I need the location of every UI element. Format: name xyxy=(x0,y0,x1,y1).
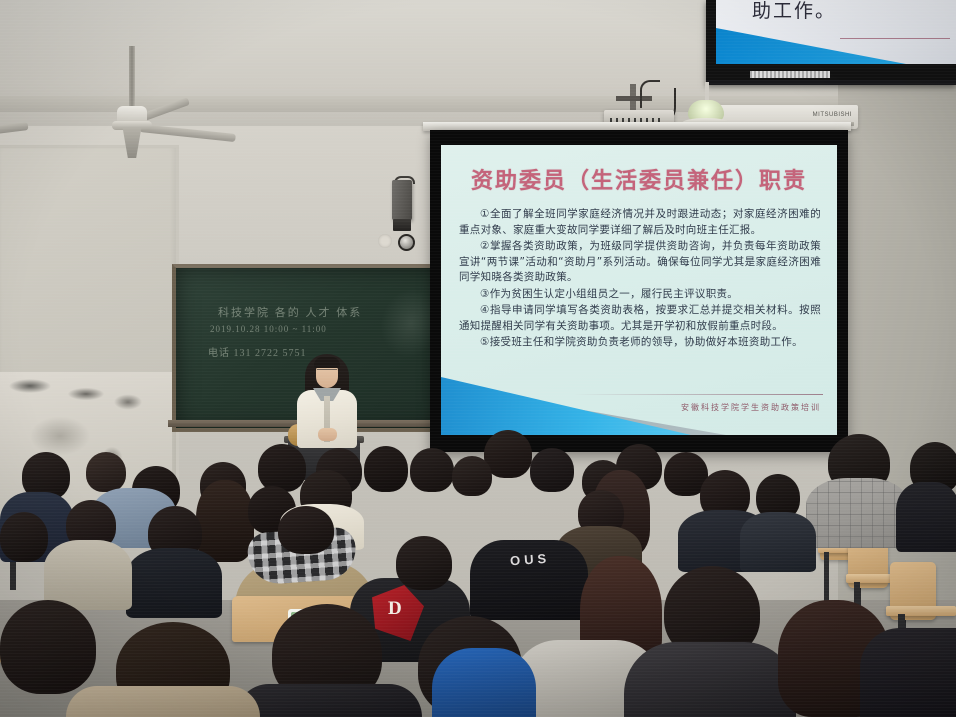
slide-footer-text: 安徽科技学院学生资助政策培训 xyxy=(681,402,821,413)
presenter-fringe xyxy=(314,357,340,368)
glasses-icon xyxy=(317,369,337,375)
student-shoulders xyxy=(432,648,536,717)
slide-body: ①全面了解全班同学家庭经济情况并及时跟进动态；对家庭经济困难的重点对象、家庭重大… xyxy=(459,207,821,352)
wall-outlet xyxy=(378,234,392,248)
student-shoulders xyxy=(236,684,422,717)
slide-paragraph: ④指导申请同学填写各类资助表格，按要求汇总并提交相关材料。按照通知提醒相关同学有… xyxy=(459,303,821,334)
student-shoulders xyxy=(806,478,910,548)
wall-monitor[interactable]: 助工作。 xyxy=(706,0,956,85)
fan-downrod xyxy=(129,46,135,110)
projection-screen: 资助委员（生活委员兼任）职责 ①全面了解全班同学家庭经济情况并及时跟进动态；对家… xyxy=(430,130,848,452)
presenter xyxy=(292,352,362,448)
student-shoulders xyxy=(44,540,132,610)
student-head xyxy=(364,446,408,492)
classroom-photo: 助工作。 MITSUBISHI 科技学院 各的 人才 体系 2019.10. xyxy=(0,0,956,717)
speaker-body xyxy=(392,180,412,220)
jacket-text: OUS xyxy=(510,551,551,569)
monitor-sticker xyxy=(750,71,830,78)
slide-footer-rule xyxy=(573,394,823,395)
slide-title: 资助委员（生活委员兼任）职责 xyxy=(441,163,837,195)
jacket-letter: D xyxy=(388,598,402,620)
student-long-hair xyxy=(196,480,254,562)
student-head xyxy=(452,456,492,496)
student-head xyxy=(0,512,48,562)
student-head xyxy=(278,506,334,554)
monitor-screen: 助工作。 xyxy=(716,0,956,64)
student-head xyxy=(0,600,96,694)
student-shoulders xyxy=(126,548,222,618)
slide-paragraph: ⑤接受班主任和学院资助负责老师的领导，协助做好本班资助工作。 xyxy=(459,335,821,351)
monitor-slide-text: 助工作。 xyxy=(752,0,836,23)
ac-brand-label: MITSUBISHI xyxy=(813,112,852,118)
student-head xyxy=(396,536,452,590)
projector-cable xyxy=(640,80,660,108)
monitor-slide-rule xyxy=(840,38,950,39)
slide-paragraph: ③作为贫困生认定小组组员之一，履行民主评议职责。 xyxy=(459,287,821,303)
student-head xyxy=(530,448,574,492)
student-shoulders xyxy=(860,628,956,717)
chair-tablet-arm[interactable] xyxy=(886,606,956,616)
monitor-slide-wedge xyxy=(716,28,906,64)
presentation-slide: 资助委员（生活委员兼任）职责 ①全面了解全班同学家庭经济情况并及时跟进动态；对家… xyxy=(441,145,837,435)
student-shoulders xyxy=(740,512,816,572)
student-shoulders xyxy=(66,686,260,717)
student-shoulders xyxy=(896,482,956,552)
presenter-hands xyxy=(318,428,337,441)
student-head xyxy=(410,448,454,492)
slide-paragraph: ①全面了解全班同学家庭经济情况并及时跟进动态；对家庭经济困难的重点对象、家庭重大… xyxy=(459,207,821,238)
speaker-mount xyxy=(393,219,411,231)
speaker-knob xyxy=(398,234,415,251)
blackboard-line: 2019.10.28 10:00 ~ 11:00 xyxy=(210,324,327,334)
student-head xyxy=(86,452,126,492)
student-head xyxy=(258,444,306,492)
student-shoulders xyxy=(624,642,796,717)
slide-paragraph: ②掌握各类资助政策，为班级同学提供资助咨询，并负责每年资助政策宣讲“两节课”活动… xyxy=(459,239,821,286)
blackboard-line: 科技学院 各的 人才 体系 xyxy=(218,304,362,320)
